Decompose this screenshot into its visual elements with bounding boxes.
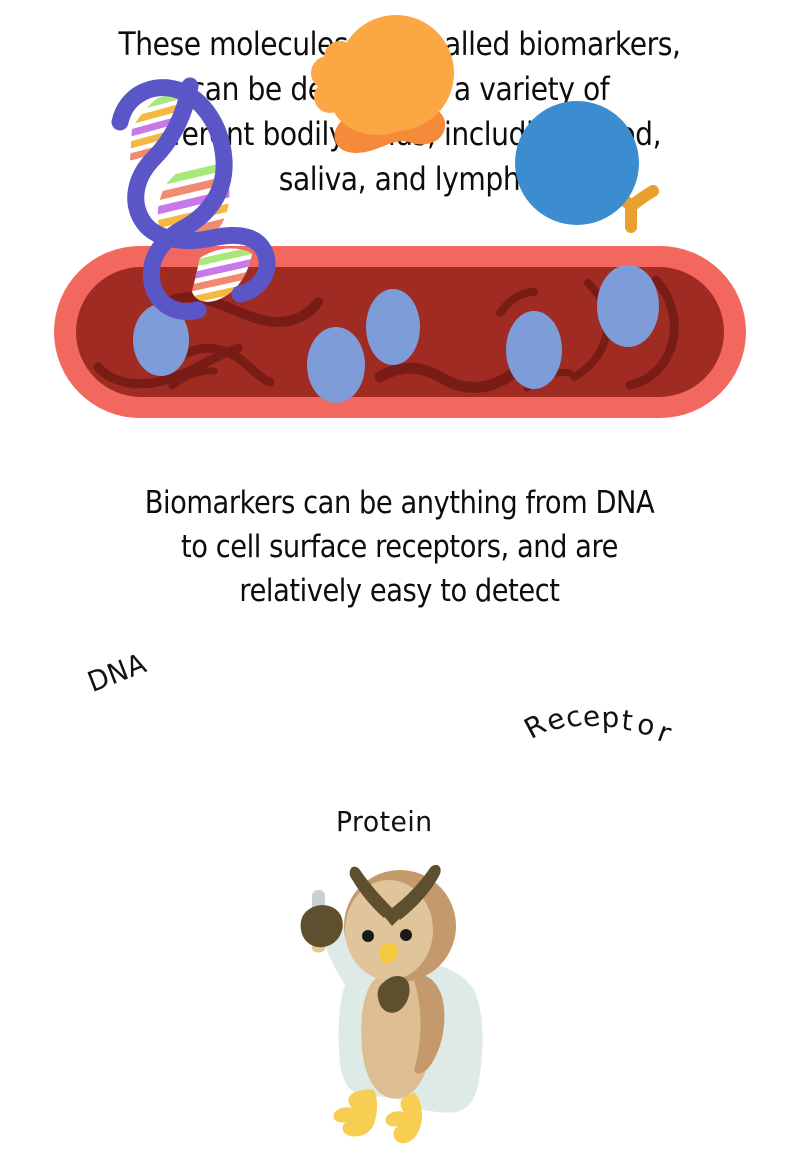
- owl-foot-left: [334, 1089, 377, 1136]
- dna-svg: [72, 10, 302, 340]
- owl-svg: [288, 862, 523, 1162]
- protein-label: Protein: [336, 805, 433, 838]
- protein-body-extend: [330, 59, 426, 135]
- vessel-cell-5: [597, 265, 659, 347]
- dna-label: DNA: [83, 646, 151, 698]
- receptor-label-letter: p: [601, 701, 620, 735]
- owl-feet: [334, 1089, 422, 1143]
- receptor-body: [515, 101, 639, 225]
- infographic-page: These molecules, also called biomarkers,…: [0, 0, 799, 1170]
- dna-illustration: [72, 10, 302, 340]
- vessel-cell-3: [366, 289, 420, 365]
- owl-foot-right: [386, 1093, 422, 1143]
- receptor-label-letter: t: [620, 704, 634, 738]
- vessel-cell-2: [307, 327, 365, 403]
- owl-eye-right: [400, 929, 412, 941]
- receptor-illustration: [505, 45, 720, 250]
- owl-scientist-character: [288, 862, 523, 1162]
- receptor-svg: [505, 45, 720, 250]
- receptor-label-letter: e: [580, 699, 602, 734]
- caption-middle-text: Biomarkers can be anything from DNA to c…: [48, 481, 751, 613]
- vessel-cell-4: [506, 311, 562, 389]
- receptor-label-letter: r: [653, 715, 675, 750]
- owl-eye-left: [362, 930, 374, 942]
- protein-illustration: [300, 5, 500, 215]
- protein-svg: [300, 5, 500, 215]
- receptor-label-letter: o: [634, 707, 658, 743]
